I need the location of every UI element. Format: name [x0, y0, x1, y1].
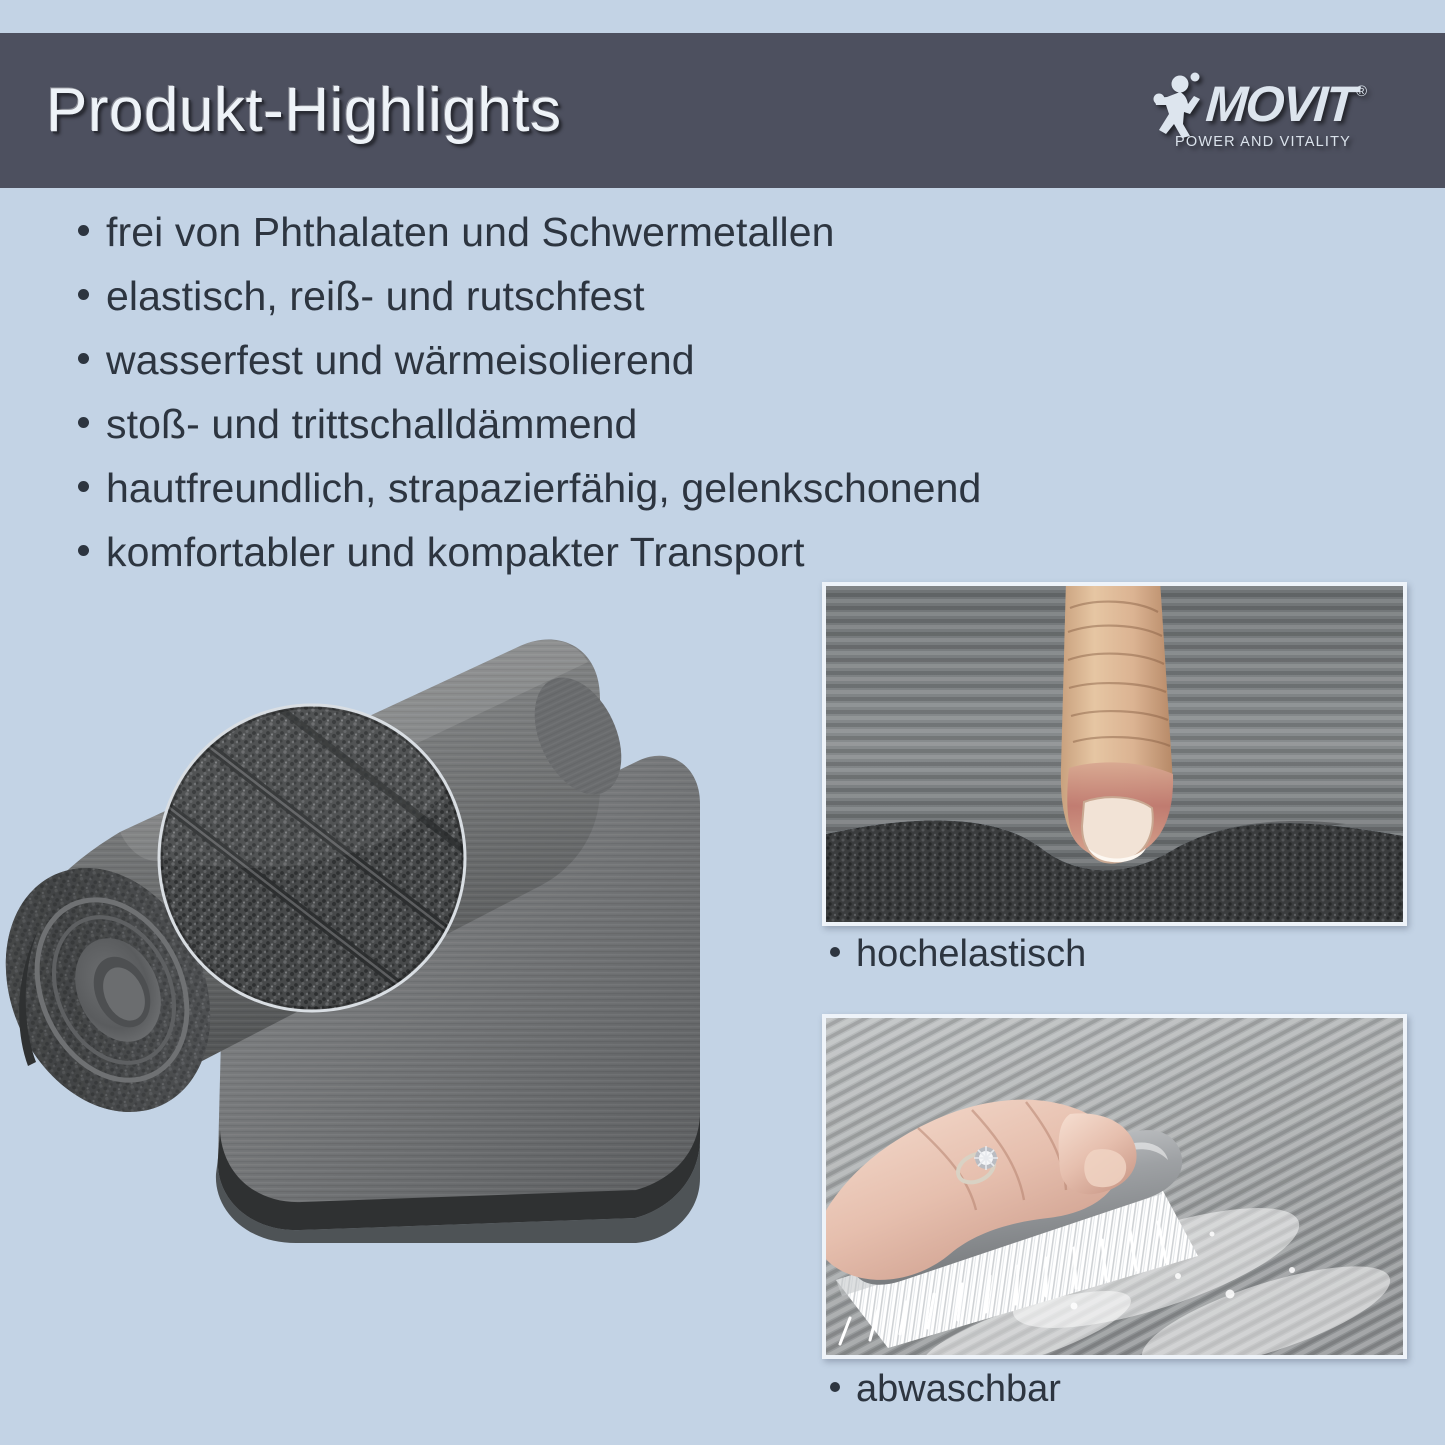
list-item-label: wasserfest und wärmeisolierend	[106, 340, 695, 381]
movit-logo: MOVIT ® POWER AND VITALITY	[1150, 72, 1367, 150]
rolled-fitness-mat-photo	[0, 618, 800, 1243]
page-title: Produkt-Highlights	[46, 80, 562, 142]
bullet-icon	[78, 289, 89, 300]
list-item: hautfreundlich, strapazierfähig, gelenks…	[78, 468, 1078, 509]
feature-list: frei von Phthalaten und Schwermetallen e…	[78, 212, 1078, 596]
bullet-icon	[78, 353, 89, 364]
list-item-label: frei von Phthalaten und Schwermetallen	[106, 212, 835, 253]
caption-label: hochelastisch	[856, 935, 1086, 973]
list-item: elastisch, reiß- und rutschfest	[78, 276, 1078, 317]
list-item: frei von Phthalaten und Schwermetallen	[78, 212, 1078, 253]
list-item-label: komfortabler und kompakter Transport	[106, 532, 805, 573]
logo-wordmark: MOVIT ®	[1206, 81, 1367, 129]
list-item-label: elastisch, reiß- und rutschfest	[106, 276, 645, 317]
bullet-icon	[78, 481, 89, 492]
logo-name: MOVIT	[1204, 81, 1356, 129]
caption-hochelastisch: hochelastisch	[830, 935, 1086, 973]
list-item-label: stoß- und trittschalldämmend	[106, 404, 637, 445]
list-item: komfortabler und kompakter Transport	[78, 532, 1078, 573]
bullet-icon	[830, 1382, 840, 1392]
bullet-icon	[830, 947, 840, 957]
brush-cleaning-photo	[822, 1014, 1407, 1359]
list-item: wasserfest und wärmeisolierend	[78, 340, 1078, 381]
header-bar: Produkt-Highlights MOVIT ® POWER AND VIT…	[0, 33, 1445, 188]
caption-abwaschbar: abwaschbar	[830, 1370, 1061, 1408]
caption-label: abwaschbar	[856, 1370, 1061, 1408]
list-item: stoß- und trittschalldämmend	[78, 404, 1078, 445]
running-figure-icon	[1150, 72, 1204, 138]
logo-main-row: MOVIT ®	[1150, 72, 1367, 138]
bullet-icon	[78, 545, 89, 556]
logo-trademark-icon: ®	[1356, 83, 1367, 100]
bullet-icon	[78, 225, 89, 236]
list-item-label: hautfreundlich, strapazierfähig, gelenks…	[106, 468, 981, 509]
bullet-icon	[78, 417, 89, 428]
finger-press-elasticity-photo	[822, 582, 1407, 926]
